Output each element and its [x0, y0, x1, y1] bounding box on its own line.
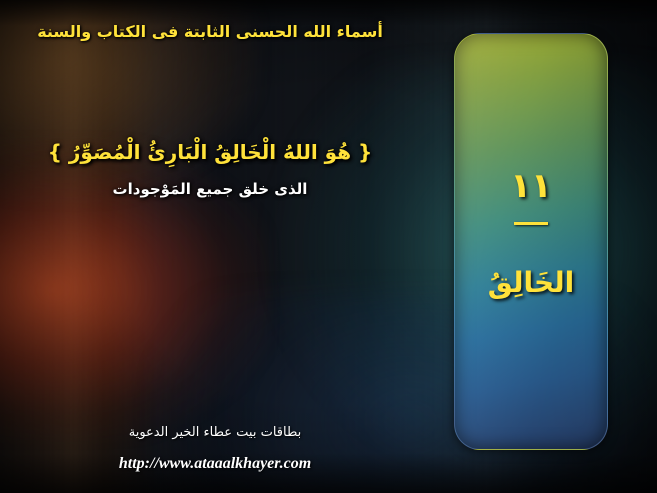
- slide-card: أسماء الله الحسنى الثابتة فى الكتاب والس…: [0, 0, 657, 493]
- panel-name: الخَالِقُ: [455, 266, 607, 299]
- website-url[interactable]: http://www.ataaalkhayer.com: [0, 455, 430, 473]
- panel-sheen: [455, 34, 607, 449]
- name-panel: ١١ الخَالِقُ: [454, 33, 608, 450]
- panel-number: ١١: [455, 166, 607, 206]
- verse-text: { هُوَ اللهُ الْخَالِقُ الْبَارِئُ الْمُ…: [0, 140, 420, 164]
- verse-subtitle: الذى خلق جميع المَوْجودات: [0, 180, 420, 198]
- page-title: أسماء الله الحسنى الثابتة فى الكتاب والس…: [0, 22, 420, 41]
- panel-divider: [514, 222, 548, 225]
- credit-text: بطاقات بيت عطاء الخير الدعوية: [0, 425, 430, 440]
